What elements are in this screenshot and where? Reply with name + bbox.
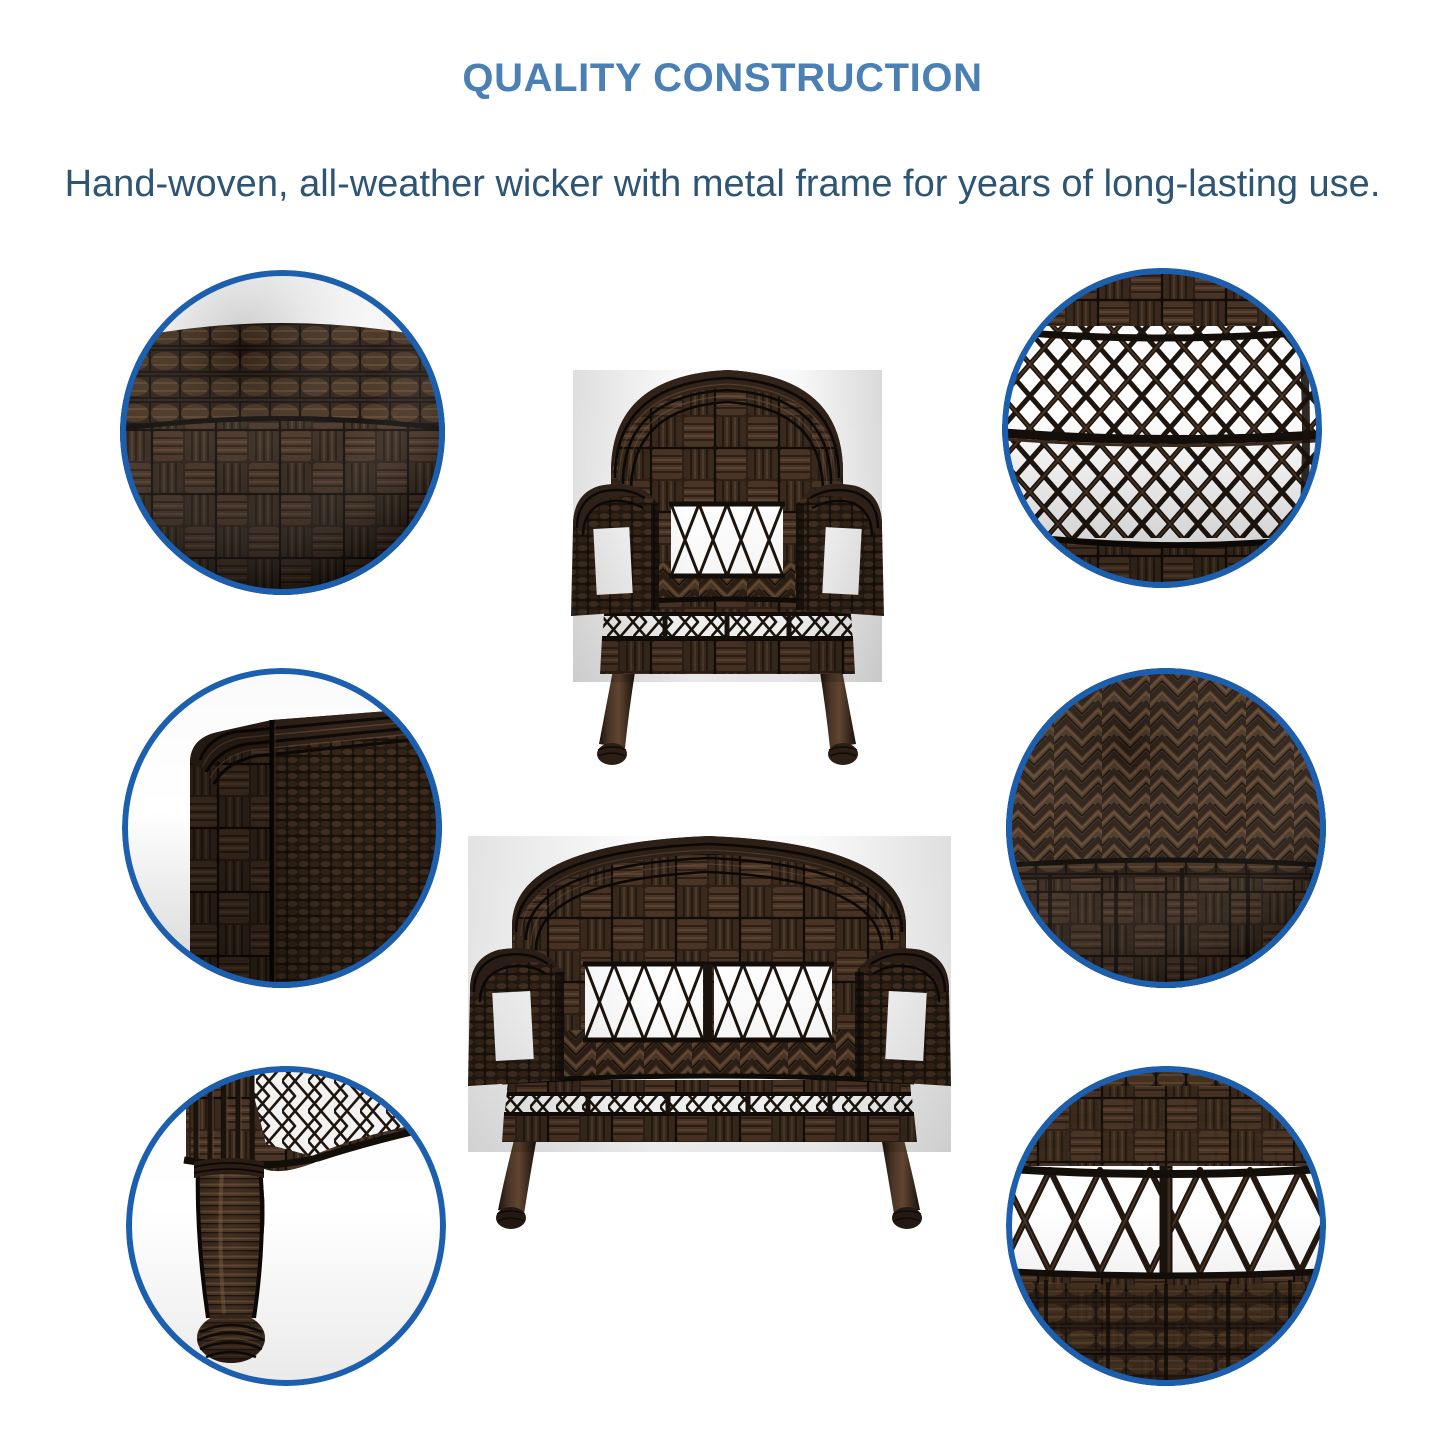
callout-top-left-image [120, 270, 445, 595]
chair-legs [597, 670, 858, 765]
callout-bottom-right-image [1006, 1066, 1326, 1386]
product-chair [555, 352, 900, 772]
callout-top-right [1002, 268, 1322, 588]
callout-bottom-right [1006, 1066, 1326, 1386]
page-subtitle: Hand-woven, all-weather wicker with meta… [0, 163, 1445, 206]
loveseat-legs [496, 1140, 922, 1229]
callout-top-right-image [1002, 268, 1322, 588]
callout-top-left [120, 270, 445, 595]
callout-mid-left-image [122, 668, 442, 988]
callout-mid-left [122, 668, 442, 988]
loveseat-illustration [452, 822, 967, 1237]
infographic-page: QUALITY CONSTRUCTION Hand-woven, all-wea… [0, 0, 1445, 1445]
callout-bottom-left-image [126, 1066, 446, 1386]
callout-mid-right [1006, 668, 1326, 988]
loveseat-shading [468, 836, 951, 1152]
chair-illustration [555, 352, 900, 772]
callout-bottom-left [126, 1066, 446, 1386]
product-loveseat [452, 822, 967, 1237]
page-title: QUALITY CONSTRUCTION [0, 56, 1445, 101]
callout-mid-right-image [1006, 668, 1326, 988]
chair-shading [573, 370, 882, 682]
